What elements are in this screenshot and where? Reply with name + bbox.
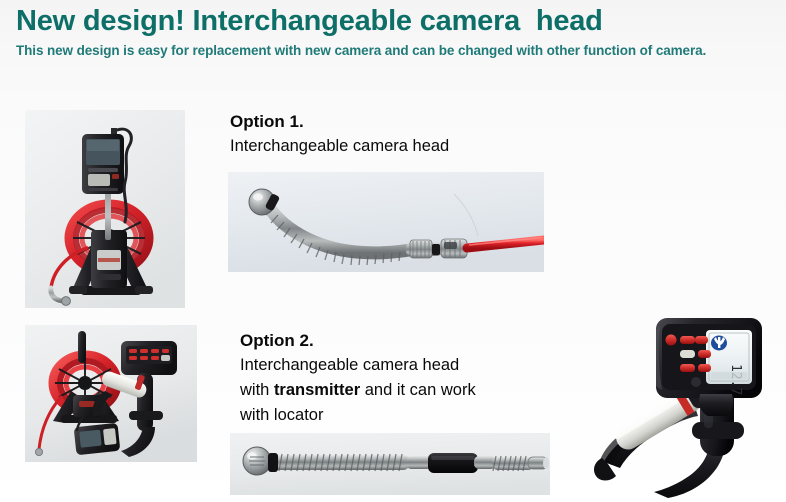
- speaker-port: [691, 377, 701, 387]
- keypad-button-2[interactable]: [680, 350, 695, 358]
- photo-reel-with-monitor: [25, 110, 185, 308]
- slide-canvas: New design! Interchangeable camera head …: [0, 0, 786, 502]
- option-2-line-3: with locator: [240, 406, 323, 424]
- page-title: New design! Interchangeable camera head: [16, 4, 776, 38]
- locator-depth-readout: 12.7: [728, 364, 743, 395]
- photo-reel-with-locator-kit: [25, 325, 197, 462]
- option-2-line-2-pre: with: [240, 381, 274, 399]
- camera-head-1-illustration: [228, 172, 544, 272]
- locator-neck: [699, 394, 733, 416]
- locator-head-unit: 12.7: [656, 318, 762, 398]
- camera-head-tip: [35, 448, 42, 455]
- option-2-heading: Option 2.: [240, 330, 314, 352]
- camera-head-lens: [62, 297, 71, 306]
- photo-handheld-locator: 12.7: [582, 312, 782, 498]
- photo-camera-head-option-1: [228, 172, 544, 272]
- keypad-button-1[interactable]: [680, 336, 695, 344]
- reel-handle: [78, 331, 86, 363]
- keypad-button-3[interactable]: [680, 364, 695, 372]
- ball-highlight: [253, 193, 263, 200]
- reel-locator-kit-illustration: [25, 325, 197, 462]
- reel-with-monitor-illustration: [25, 110, 185, 308]
- power-button[interactable]: [666, 335, 677, 346]
- option-2-body: Interchangeable camera head with transmi…: [240, 353, 550, 428]
- option-2-transmitter-emphasis: transmitter: [274, 381, 360, 399]
- handle-collar: [692, 422, 744, 439]
- camera-head-2-illustration: [230, 433, 550, 495]
- photo-camera-head-option-2: [230, 433, 550, 495]
- keypad-button-4[interactable]: [698, 350, 711, 358]
- option-2-line-2-post: and it can work: [360, 381, 476, 399]
- handheld-locator-illustration: 12.7: [582, 312, 782, 498]
- keypad-button-6[interactable]: [695, 336, 708, 344]
- lcd-monitor: [82, 134, 124, 194]
- detachable-monitor: [74, 423, 121, 455]
- keypad-button-5[interactable]: [698, 364, 711, 372]
- connector-gasket: [432, 244, 440, 255]
- brand-logo-icon: [711, 336, 727, 351]
- option-1-heading: Option 1.: [230, 111, 304, 133]
- option-1-body: Interchangeable camera head: [230, 134, 560, 159]
- page-subtitle: This new design is easy for replacement …: [16, 42, 768, 60]
- option-2-line-1: Interchangeable camera head: [240, 356, 459, 374]
- head-collar-2: [268, 453, 278, 472]
